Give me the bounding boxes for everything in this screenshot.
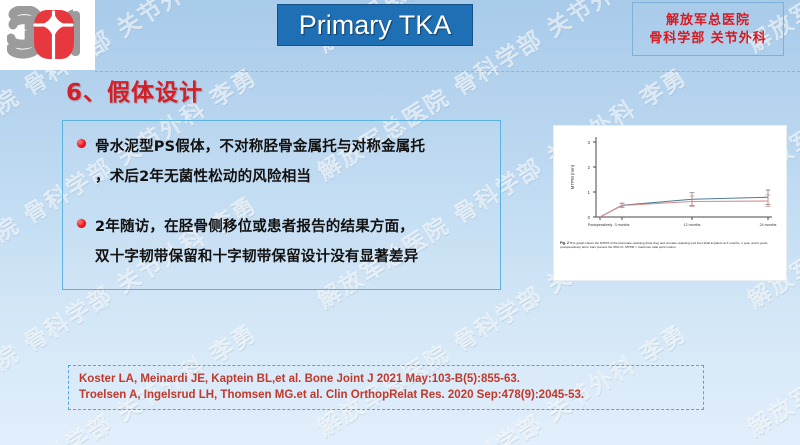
y-axis-tick-label: 2 bbox=[588, 165, 591, 170]
series-line bbox=[600, 197, 768, 217]
x-axis-tick-label: Postoperatively bbox=[588, 223, 613, 227]
bullet-line: 2年随访，在胫骨侧移位或患者报告的结果方面， bbox=[95, 212, 418, 242]
bullet-text: 2年随访，在胫骨侧移位或患者报告的结果方面， 双十字韧带保留和十字韧带保留设计没… bbox=[95, 212, 418, 272]
hospital-logo bbox=[0, 0, 95, 70]
bullet-line: 骨水泥型PS假体，不对称胫骨金属托与对称金属托 bbox=[95, 132, 425, 162]
slide-canvas: 解放军总医院 骨科学部 关节外科 李勇解放军总医院 骨科学部 关节外科 李勇解放… bbox=[0, 0, 800, 445]
bullet-item: 骨水泥型PS假体，不对称胫骨金属托与对称金属托 ，术后2年无菌性松动的风险相当 bbox=[69, 132, 490, 192]
slide-title-banner: Primary TKA bbox=[277, 4, 473, 46]
figure-panel: 0123MTPM (mm)Postoperatively3 months12 m… bbox=[554, 126, 786, 280]
bullet-line: 双十字韧带保留和十字韧带保留设计没有显著差异 bbox=[95, 242, 418, 272]
watermark-text: 解放军总医院 骨科学部 关节外科 李勇 bbox=[740, 314, 800, 445]
series-line bbox=[600, 201, 768, 217]
bullet-dot-icon bbox=[77, 219, 86, 228]
reference-box: Koster LA, Meinardi JE, Kaptein BL,et al… bbox=[68, 365, 704, 410]
bullet-text: 骨水泥型PS假体，不对称胫骨金属托与对称金属托 ，术后2年无菌性松动的风险相当 bbox=[95, 132, 425, 192]
x-axis-tick-label: 3 months bbox=[615, 223, 630, 227]
bullet-line: ，术后2年无菌性松动的风险相当 bbox=[95, 162, 425, 192]
x-axis-tick-label: 12 months bbox=[684, 223, 701, 227]
figure-caption: Fig. 2 This graph shows the MTPM of the … bbox=[560, 241, 780, 249]
section-heading: 6、假体设计 bbox=[66, 80, 203, 106]
reference-line: Koster LA, Meinardi JE, Kaptein BL,et al… bbox=[79, 371, 703, 387]
hospital-name-line2: 骨科学部 关节外科 bbox=[649, 31, 767, 46]
y-axis-tick-label: 0 bbox=[588, 215, 591, 220]
reference-line: Troelsen A, Ingelsrud LH, Thomsen MG.et … bbox=[79, 387, 703, 403]
chart-mtpm: 0123MTPM (mm)Postoperatively3 months12 m… bbox=[560, 131, 780, 239]
hospital-name-line1: 解放军总医院 bbox=[666, 13, 750, 28]
y-axis-label: MTPM (mm) bbox=[570, 164, 575, 189]
figure-caption-text: This graph shows the MTPM of the bicruci… bbox=[560, 241, 767, 249]
bullet-item: 2年随访，在胫骨侧移位或患者报告的结果方面， 双十字韧带保留和十字韧带保留设计没… bbox=[69, 212, 490, 272]
y-axis-tick-label: 1 bbox=[588, 190, 591, 195]
page-title: Primary TKA bbox=[299, 12, 452, 39]
header-divider bbox=[95, 71, 800, 72]
content-box: 骨水泥型PS假体，不对称胫骨金属托与对称金属托 ，术后2年无菌性松动的风险相当 … bbox=[62, 120, 501, 290]
logo-301-icon bbox=[7, 6, 89, 64]
x-axis-tick-label: 24 months bbox=[760, 223, 777, 227]
bullet-dot-icon bbox=[77, 139, 86, 148]
y-axis-tick-label: 3 bbox=[588, 140, 591, 145]
hospital-name-box: 解放军总医院 骨科学部 关节外科 bbox=[632, 2, 784, 56]
